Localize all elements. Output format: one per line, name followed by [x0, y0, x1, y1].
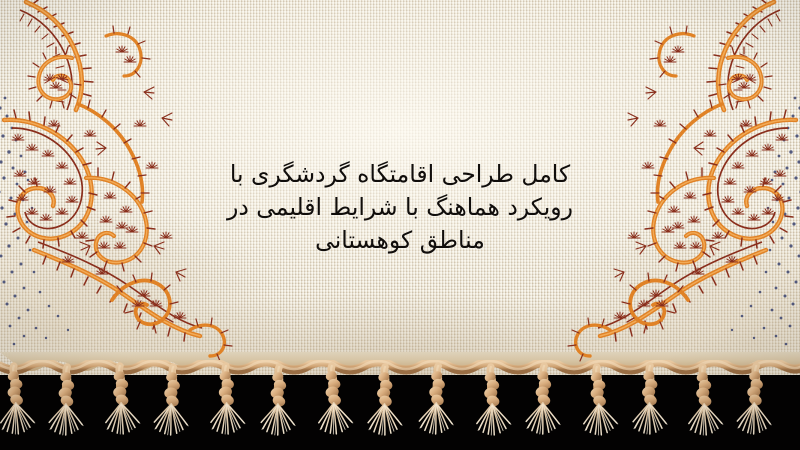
title-card-canvas: کامل طراحی اقامتگاه گردشگری با رویکرد هم…: [0, 0, 800, 450]
woven-linen-cloth: [0, 0, 800, 375]
